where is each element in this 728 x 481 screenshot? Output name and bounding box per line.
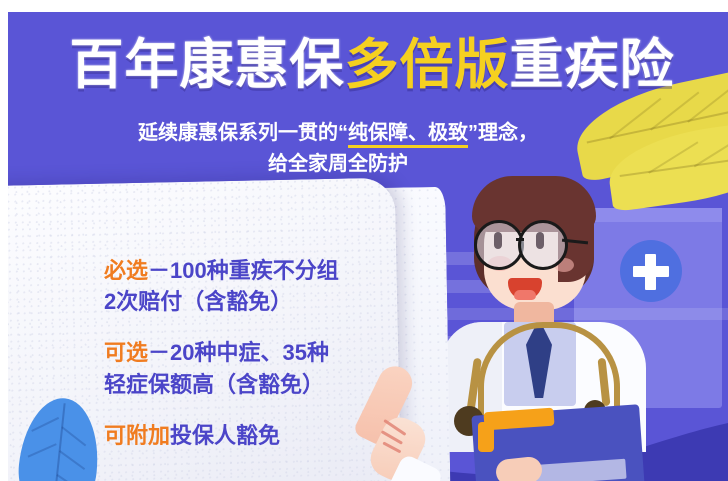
feature-item-3: 可附加投保人豁免 — [104, 420, 404, 451]
insurance-promo-poster: 百年康惠保多倍版重疾险 延续康惠保系列一贯的“纯保障、极致”理念， 给全家周全防… — [0, 0, 728, 481]
doctor-illustration — [426, 172, 666, 481]
feature-list: 必选－100种重疾不分组 2次赔付（含豁免） 可选－20种中症、35种 轻症保额… — [104, 255, 404, 451]
feature-key: 可附加 — [104, 423, 170, 448]
feature-dash: － — [148, 258, 170, 283]
title-segment-3: 重疾险 — [510, 35, 675, 95]
poster-subtitle: 延续康惠保系列一贯的“纯保障、极致”理念， 给全家周全防护 — [8, 118, 668, 180]
clipboard-clip-side — [478, 422, 494, 452]
glasses-bridge — [516, 238, 524, 241]
feature-line-2: 2次赔付（含豁免） — [104, 286, 404, 317]
feature-line-1: 可选－20种中症、35种 — [104, 337, 404, 368]
feature-line-1: 可附加投保人豁免 — [104, 420, 404, 451]
subtitle-prefix: 延续康惠保系列一贯的 — [138, 122, 338, 144]
subtitle-line-1: 延续康惠保系列一贯的“纯保障、极致”理念， — [8, 118, 668, 149]
feature-key: 必选 — [104, 258, 148, 283]
poster-canvas: 百年康惠保多倍版重疾险 延续康惠保系列一贯的“纯保障、极致”理念， 给全家周全防… — [8, 12, 728, 481]
poster-title: 百年康惠保多倍版重疾险 — [8, 38, 728, 92]
subtitle-highlight: 纯保障、极致 — [348, 122, 468, 148]
feature-dash: － — [148, 340, 170, 365]
subtitle-line-2: 给全家周全防护 — [8, 149, 668, 180]
doctor-eye-right — [536, 232, 544, 249]
title-segment-2: 多倍版 — [345, 35, 510, 95]
feature-text: 100种重疾不分组 — [170, 258, 339, 283]
feature-line-1: 必选－100种重疾不分组 — [104, 255, 404, 286]
feature-text: 投保人豁免 — [170, 423, 280, 448]
subtitle-quote-close: ” — [468, 122, 478, 144]
feature-line-2: 轻症保额高（含豁免） — [104, 369, 404, 400]
doctor-eye-left — [494, 232, 502, 249]
doctor-tongue — [514, 290, 536, 300]
subtitle-quote-open: “ — [338, 122, 348, 144]
feature-key: 可选 — [104, 340, 148, 365]
title-segment-1: 百年康惠保 — [70, 35, 345, 95]
feature-item-1: 必选－100种重疾不分组 2次赔付（含豁免） — [104, 255, 404, 317]
blue-leaf-icon — [14, 394, 104, 481]
subtitle-suffix: 理念， — [478, 122, 538, 144]
feature-item-2: 可选－20种中症、35种 轻症保额高（含豁免） — [104, 337, 404, 399]
feature-text: 20种中症、35种 — [170, 340, 329, 365]
